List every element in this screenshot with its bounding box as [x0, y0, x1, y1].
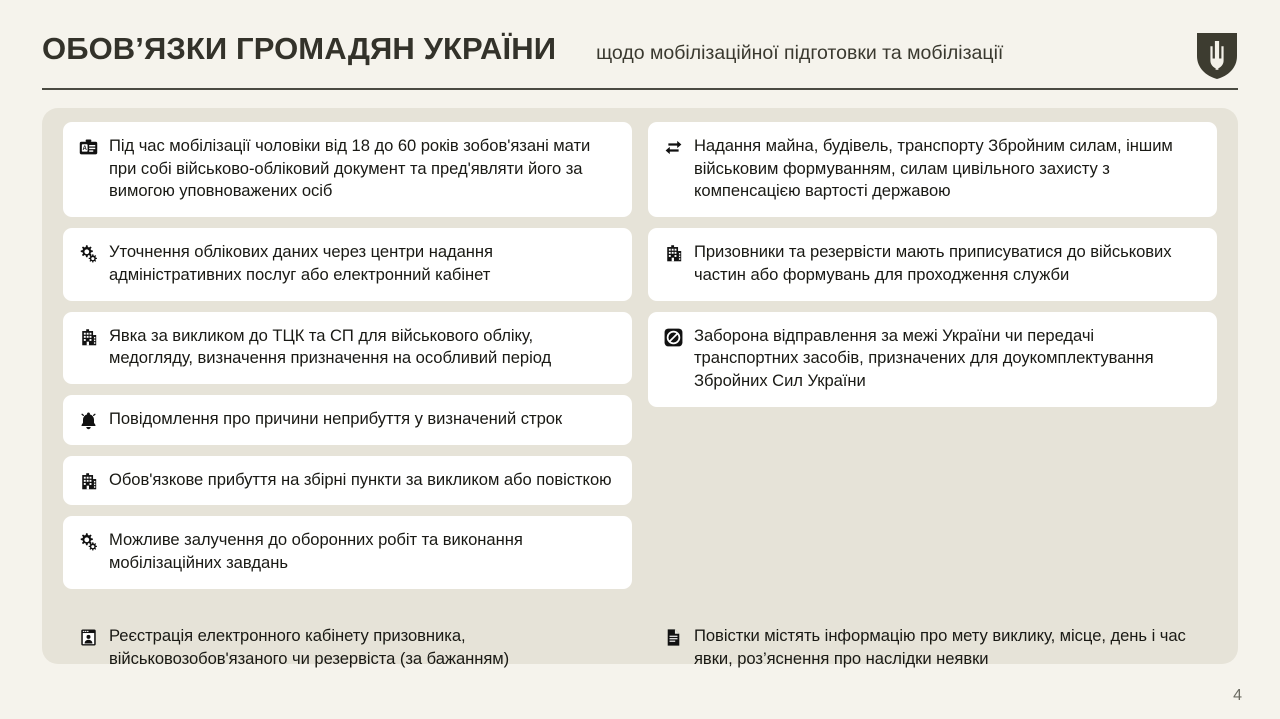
- obligation-note: Реєстрація електронного кабінету призовн…: [63, 611, 632, 684]
- page-header: ОБОВ’ЯЗКИ ГРОМАДЯН УКРАЇНИ щодо мобіліза…: [42, 18, 1238, 90]
- right-column: Надання майна, будівель, транспорту Збро…: [648, 122, 1217, 684]
- left-column: A Під час мобілізації чоловіки від 18 до…: [63, 122, 632, 684]
- obligation-text: Призовники та резервісти мають приписува…: [694, 241, 1201, 286]
- building-icon: [79, 328, 98, 347]
- column-spacer: [648, 418, 1217, 600]
- gears-icon: [79, 244, 98, 263]
- svg-text:A: A: [83, 145, 88, 152]
- obligation-card: Обов'язкове прибуття на збірні пункти за…: [63, 456, 632, 506]
- id-card-icon: A: [79, 138, 98, 157]
- obligation-card: Повідомлення про причини неприбуття у ви…: [63, 395, 632, 445]
- obligation-text: Під час мобілізації чоловіки від 18 до 6…: [109, 135, 616, 203]
- header-divider: [42, 88, 1238, 90]
- obligation-text: Можливе залучення до оборонних робіт та …: [109, 529, 616, 574]
- gears-icon: [79, 532, 98, 551]
- obligation-card: Надання майна, будівель, транспорту Збро…: [648, 122, 1217, 217]
- building-icon: [79, 472, 98, 491]
- content-panel: A Під час мобілізації чоловіки від 18 до…: [42, 108, 1238, 664]
- obligation-card: A Під час мобілізації чоловіки від 18 до…: [63, 122, 632, 217]
- obligation-text: Явка за викликом до ТЦК та СП для військ…: [109, 325, 616, 370]
- obligation-card: Уточнення облікових даних через центри н…: [63, 228, 632, 300]
- bell-icon: [79, 411, 98, 430]
- obligation-card: Заборона відправлення за межі України чи…: [648, 312, 1217, 407]
- page-title: ОБОВ’ЯЗКИ ГРОМАДЯН УКРАЇНИ: [42, 18, 556, 80]
- obligation-text: Реєстрація електронного кабінету призовн…: [109, 625, 616, 670]
- exchange-arrows-icon: [664, 138, 683, 157]
- obligation-text: Обов'язкове прибуття на збірні пункти за…: [109, 469, 612, 492]
- obligation-note: Повістки містять інформацію про мету вик…: [648, 611, 1217, 684]
- obligation-card: Призовники та резервісти мають приписува…: [648, 228, 1217, 300]
- obligation-text: Повідомлення про причини неприбуття у ви…: [109, 408, 562, 431]
- ukraine-trident-shield-icon: [1196, 32, 1238, 80]
- document-icon: [664, 628, 683, 647]
- page-number: 4: [1233, 687, 1242, 705]
- page-subtitle: щодо мобілізаційної підготовки та мобілі…: [596, 22, 1003, 84]
- obligation-card: Можливе залучення до оборонних робіт та …: [63, 516, 632, 588]
- obligation-text: Повістки містять інформацію про мету вик…: [694, 625, 1201, 670]
- obligation-card: Явка за викликом до ТЦК та СП для військ…: [63, 312, 632, 384]
- obligation-text: Заборона відправлення за межі України чи…: [694, 325, 1201, 393]
- header-title-row: ОБОВ’ЯЗКИ ГРОМАДЯН УКРАЇНИ щодо мобіліза…: [42, 18, 1238, 80]
- building-icon: [664, 244, 683, 263]
- content-columns: A Під час мобілізації чоловіки від 18 до…: [63, 122, 1217, 684]
- prohibition-icon: [664, 328, 683, 347]
- obligation-text: Надання майна, будівель, транспорту Збро…: [694, 135, 1201, 203]
- e-cabinet-icon: [79, 628, 98, 647]
- obligation-text: Уточнення облікових даних через центри н…: [109, 241, 616, 286]
